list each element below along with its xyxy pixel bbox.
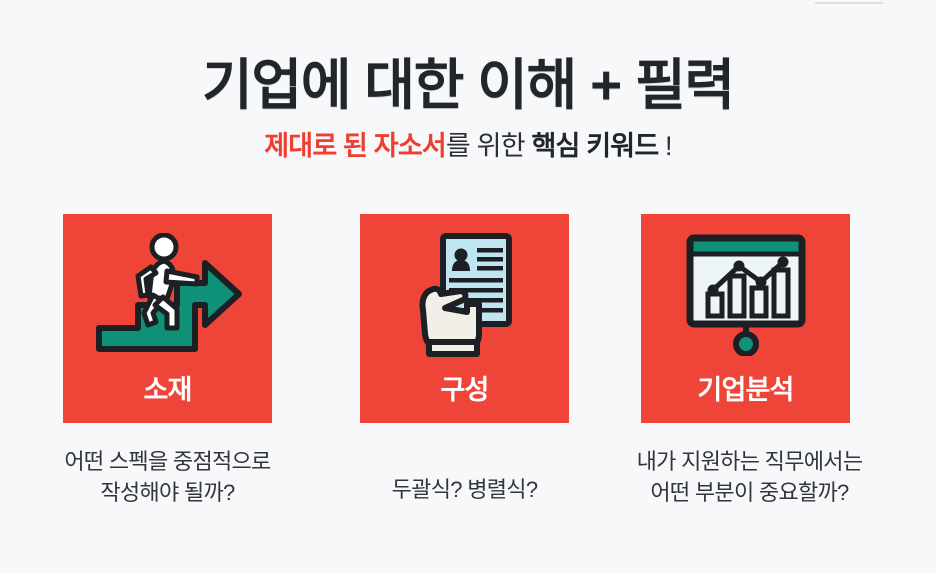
keyword-card-guseong[interactable]: 구성 (360, 214, 569, 423)
page-subtitle: 제대로 된 자소서를 위한 핵심 키워드 ! (0, 130, 936, 162)
subtitle-strong: 핵심 키워드 (531, 131, 658, 161)
caption-line: 어떤 스펙을 중점적으로 (13, 446, 322, 477)
subtitle-highlight: 제대로 된 자소서 (264, 131, 446, 161)
captions-row: 어떤 스펙을 중점적으로 작성해야 될까? 두괄식? 병렬식? 내가 지원하는 … (0, 446, 936, 536)
headline-block: 기업에 대한 이해 + 필력 제대로 된 자소서를 위한 핵심 키워드 ! (0, 54, 936, 162)
person-climbing-stairs-arrow-icon (63, 230, 272, 358)
keyword-card-gieopbunseok[interactable]: 기업분석 (641, 214, 850, 423)
card-label-sojae: 소재 (63, 375, 272, 405)
subtitle-exclamation: ! (658, 131, 671, 161)
card-label-guseong: 구성 (360, 375, 569, 405)
keyword-cards-row: 소재 (0, 214, 936, 424)
subtitle-connector: 를 위한 (446, 131, 532, 161)
caption-sojae: 어떤 스펙을 중점적으로 작성해야 될까? (13, 446, 322, 508)
caption-gieopbunseok: 내가 지원하는 직무에서는 어떤 부분이 중요할까? (589, 446, 910, 508)
keyword-card-sojae[interactable]: 소재 (63, 214, 272, 423)
caption-guseong: 두괄식? 병렬식? (330, 474, 599, 505)
hand-holding-resume-icon (360, 230, 569, 358)
page-title: 기업에 대한 이해 + 필력 (0, 54, 936, 116)
top-edge-artifact (815, 2, 883, 4)
caption-line: 두괄식? 병렬식? (330, 474, 599, 505)
caption-line: 내가 지원하는 직무에서는 (589, 446, 910, 477)
caption-line: 작성해야 될까? (13, 477, 322, 508)
poster-root: 기업에 대한 이해 + 필력 제대로 된 자소서를 위한 핵심 키워드 ! (0, 0, 936, 573)
caption-line: 어떤 부분이 중요할까? (589, 477, 910, 508)
presentation-bar-chart-icon (641, 230, 850, 358)
card-label-gieopbunseok: 기업분석 (641, 375, 850, 405)
